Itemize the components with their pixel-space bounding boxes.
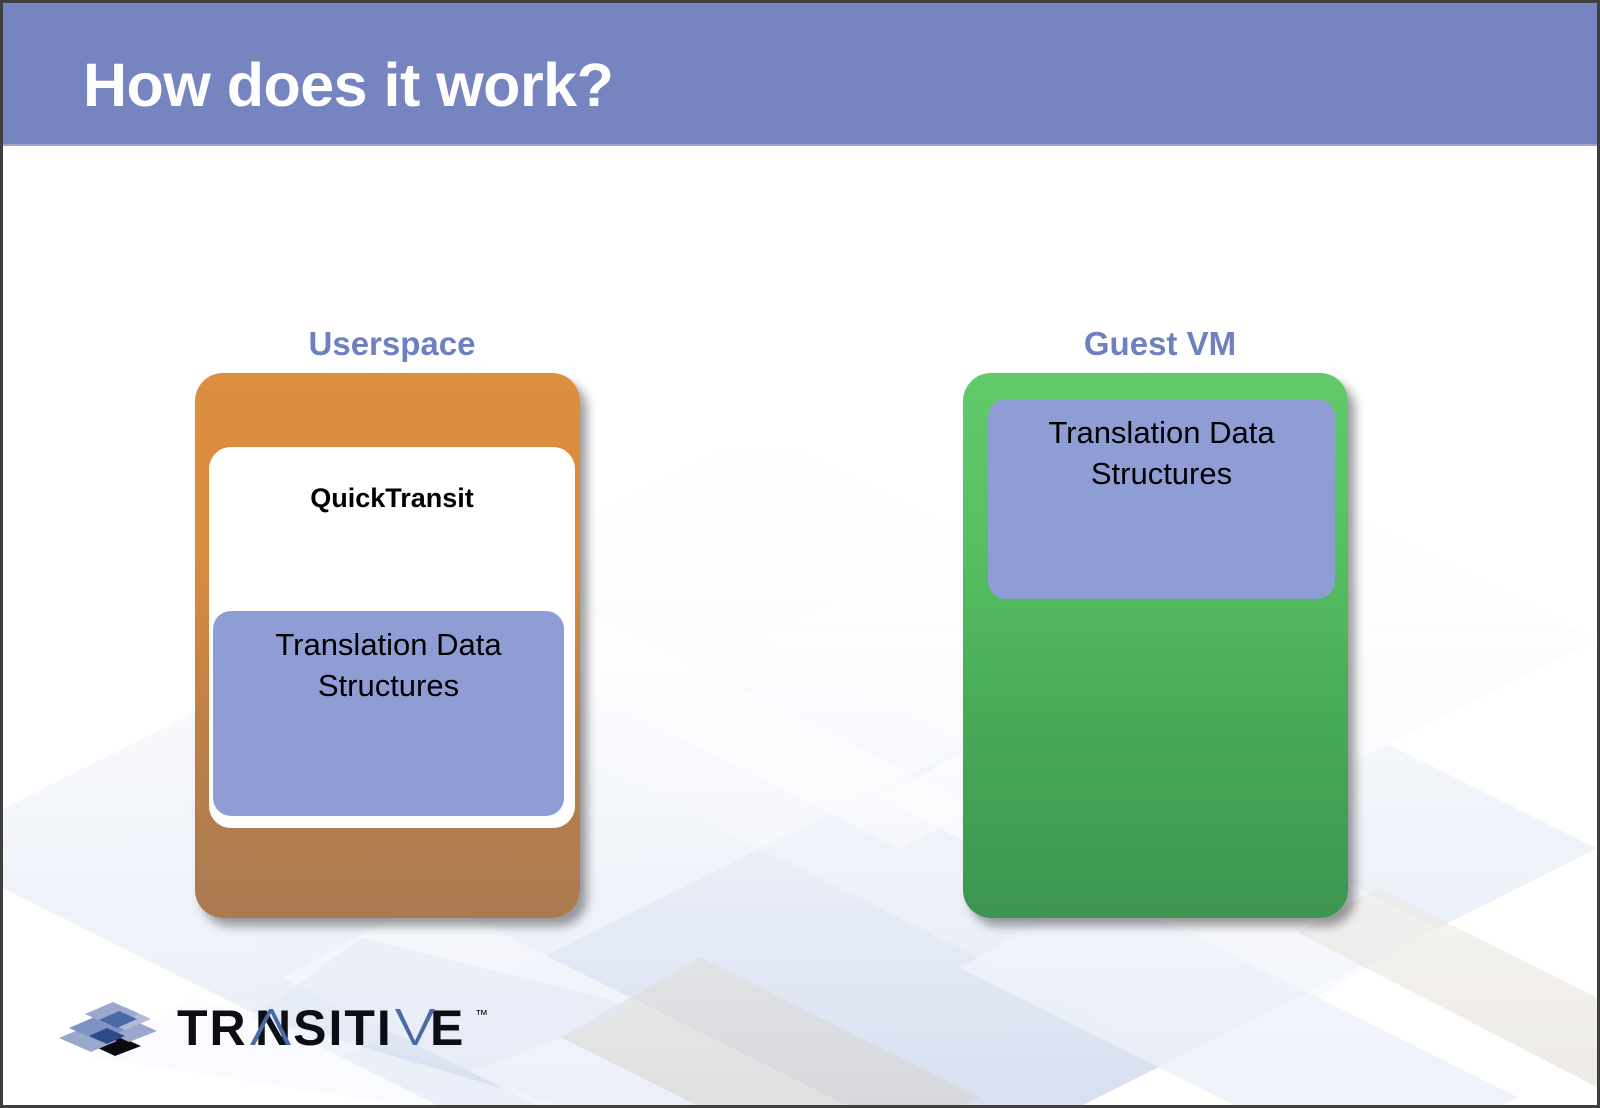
svg-text:TR: TR [177, 1001, 248, 1056]
svg-text:E: E [430, 1001, 465, 1056]
translation-data-structures-userspace: Translation Data Structures [213, 611, 564, 816]
translation-data-structures-guest-vm: Translation Data Structures [988, 399, 1335, 599]
transitive-wordmark: TR NSITI E ™ [177, 1001, 517, 1057]
trademark-symbol: ™ [475, 1007, 488, 1022]
quicktransit-label: QuickTransit [209, 483, 575, 514]
translation-data-structures-label-userspace: Translation Data Structures [275, 625, 501, 707]
svg-text:NSITI: NSITI [255, 1001, 393, 1056]
column-label-userspace: Userspace [195, 325, 589, 363]
page-title: How does it work? [83, 55, 613, 116]
presentation-slide: How does it work? Userspace QuickTransit… [0, 0, 1600, 1108]
stacked-layers-icon [55, 998, 161, 1060]
translation-data-structures-label-guest-vm: Translation Data Structures [1048, 413, 1274, 495]
column-label-guest-vm: Guest VM [963, 325, 1357, 363]
title-banner: How does it work? [3, 3, 1600, 146]
transitive-logo: TR NSITI E ™ [55, 993, 515, 1065]
